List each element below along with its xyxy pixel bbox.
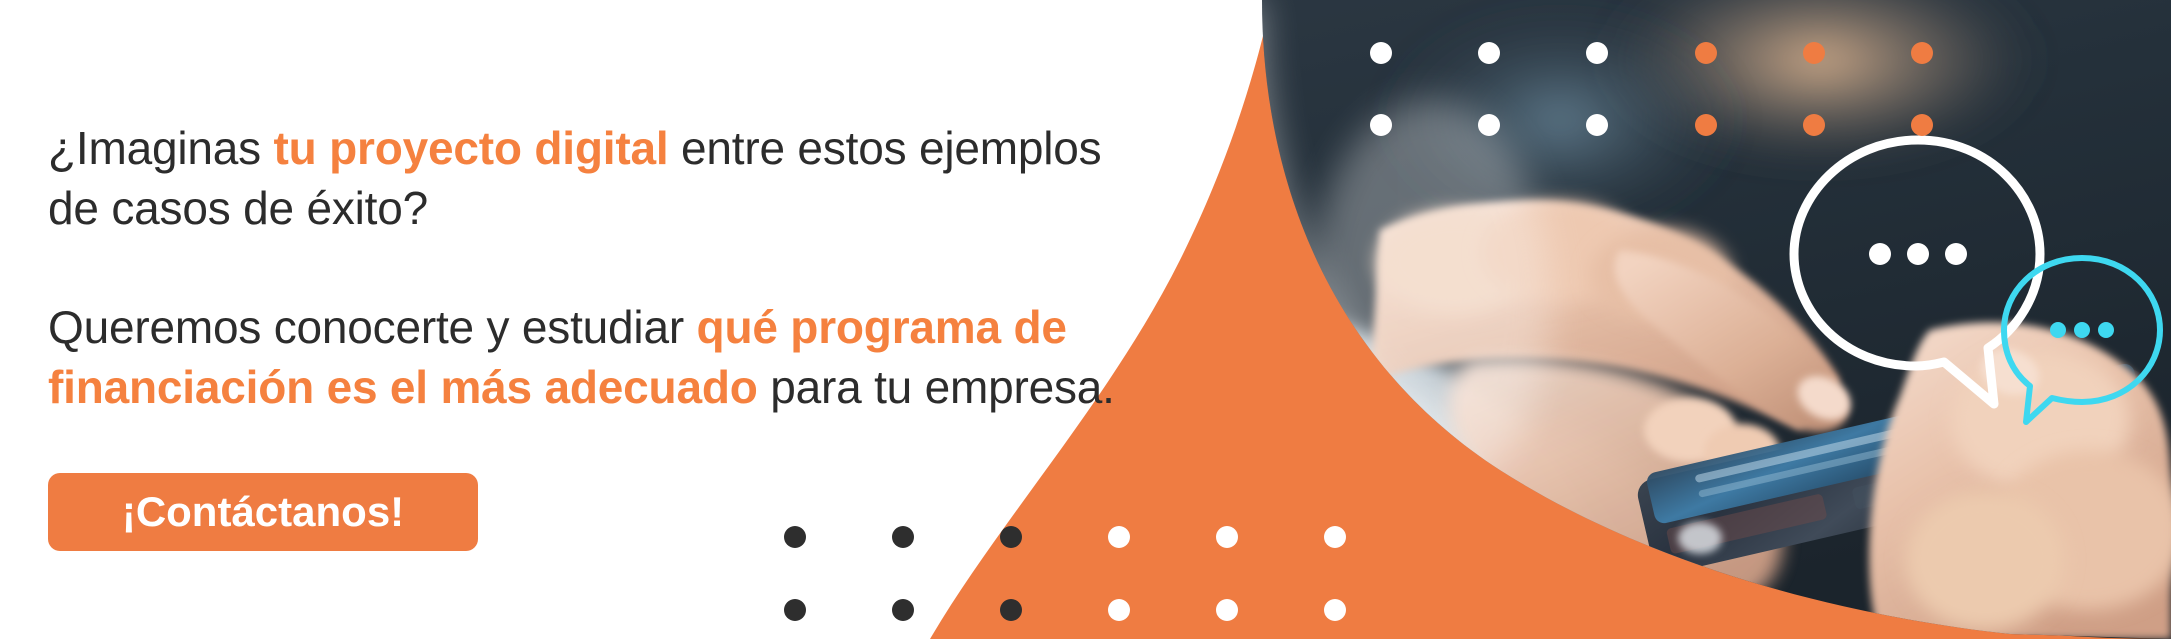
subhead-text-2: para tu empresa.: [758, 361, 1115, 413]
subhead-text-1: Queremos conocerte y estudiar: [48, 301, 697, 353]
headline-highlight: tu proyecto digital: [274, 122, 669, 174]
headline-text-1: ¿Imaginas: [48, 122, 274, 174]
contact-us-button[interactable]: ¡Contáctanos!: [48, 473, 478, 551]
promo-banner: ¿Imaginas tu proyecto digital entre esto…: [0, 0, 2171, 639]
subhead-paragraph: Queremos conocerte y estudiar qué progra…: [48, 297, 1118, 417]
banner-copy: ¿Imaginas tu proyecto digital entre esto…: [48, 118, 1118, 417]
headline-paragraph: ¿Imaginas tu proyecto digital entre esto…: [48, 118, 1118, 238]
